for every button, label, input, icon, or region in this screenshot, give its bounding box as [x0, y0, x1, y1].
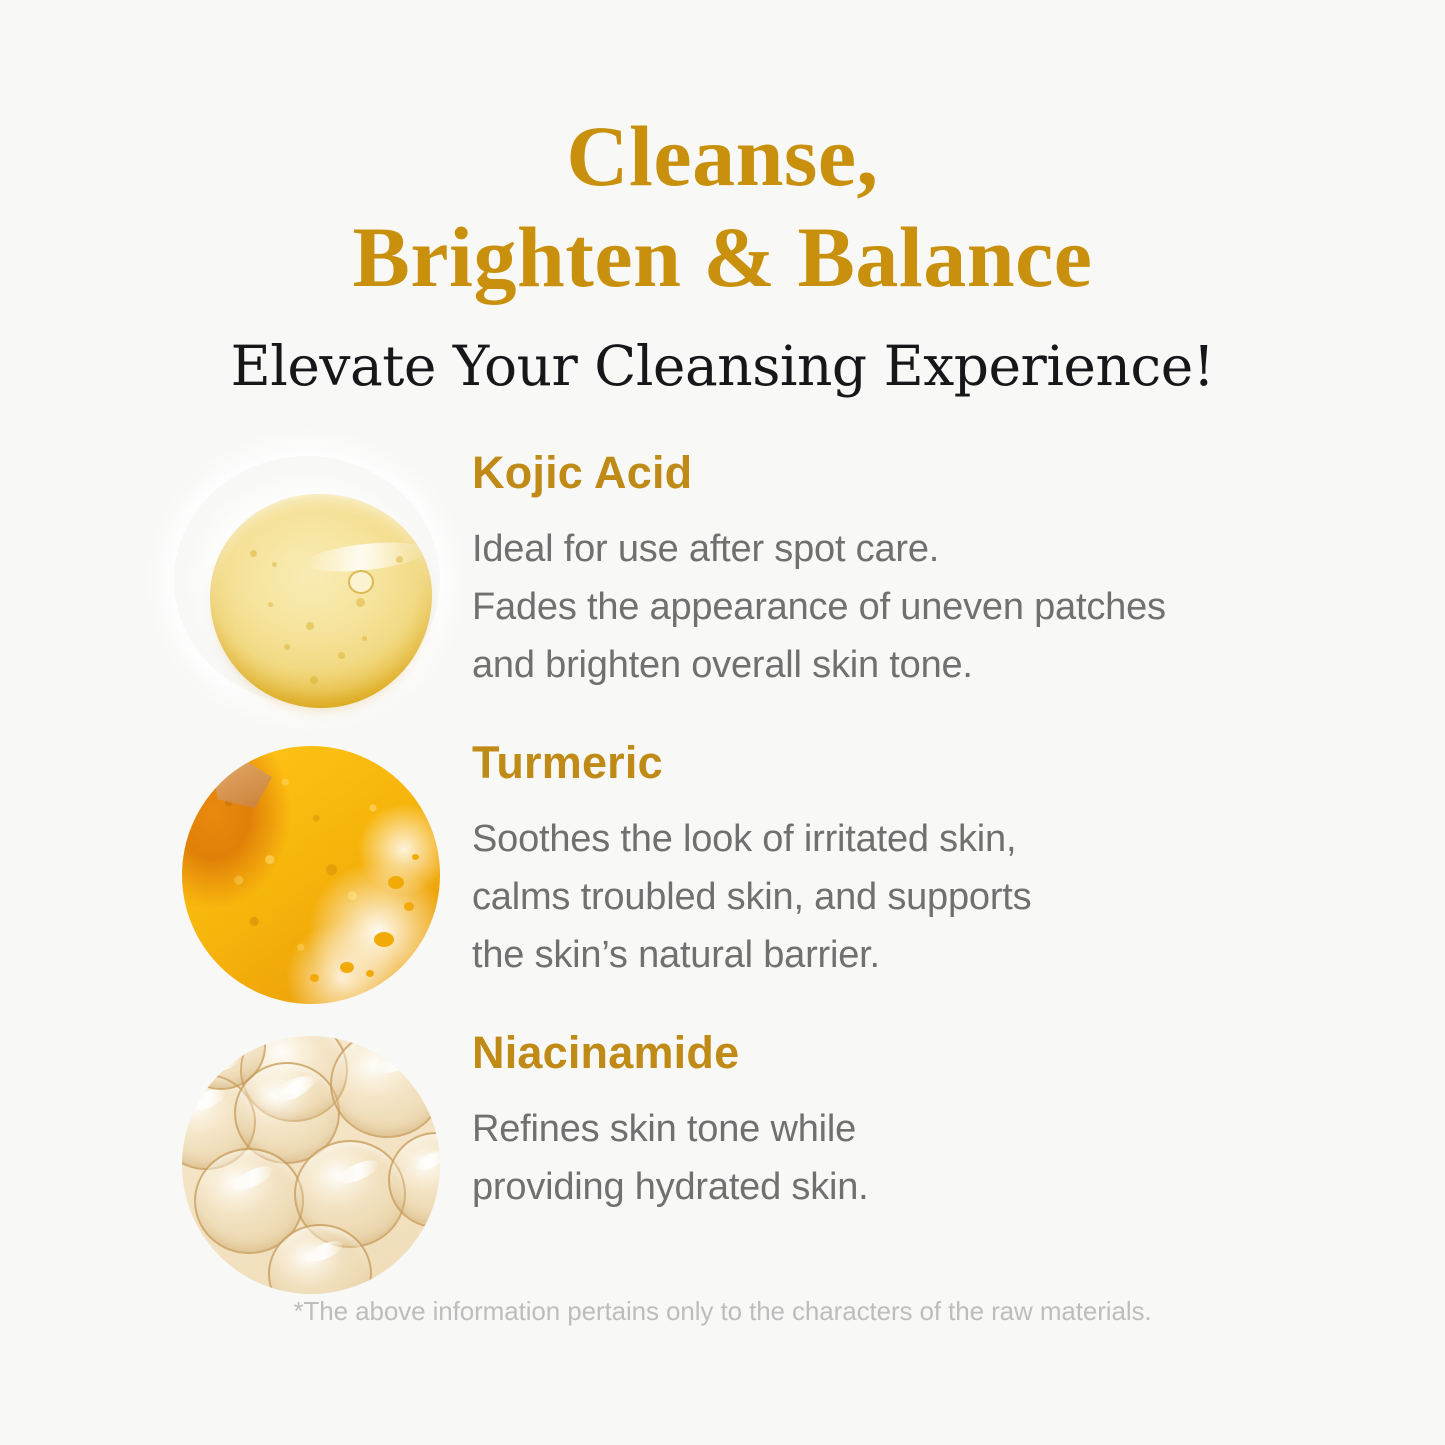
disclaimer-footnote: *The above information pertains only to …: [0, 1296, 1445, 1327]
headline-line-1: Cleanse,: [0, 106, 1445, 207]
gel-bubble-dot: [310, 676, 318, 684]
capsule-highlight: [335, 1156, 382, 1189]
gel-bubble-dot: [362, 636, 367, 641]
kojic-acid-text: Kojic Acid Ideal for use after spot care…: [460, 436, 1166, 694]
turmeric-speck: [412, 854, 419, 860]
list-item: Turmeric Soothes the look of irritated s…: [0, 726, 1445, 1016]
ingredient-title-kojic-acid: Kojic Acid: [472, 450, 1166, 495]
turmeric-thumb-wrap: [160, 726, 460, 1016]
ingredient-description-kojic-acid: Ideal for use after spot care. Fades the…: [472, 521, 1166, 694]
capsule-highlight: [413, 1147, 440, 1174]
desc-line: the skin’s natural barrier.: [472, 927, 1031, 985]
desc-line: providing hydrated skin.: [472, 1159, 869, 1217]
capsule: [330, 1036, 440, 1138]
capsule-highlight: [207, 1053, 241, 1075]
list-item: Kojic Acid Ideal for use after spot care…: [0, 436, 1445, 726]
desc-line: calms troubled skin, and supports: [472, 869, 1031, 927]
gel-bubble-dot: [250, 550, 257, 557]
turmeric-powder-image: [182, 746, 440, 1004]
kojic-acid-gel-drop-image: [174, 456, 440, 704]
turmeric-speck: [388, 876, 404, 889]
header-block: Cleanse, Brighten & Balance Elevate Your…: [0, 0, 1445, 399]
list-item: Niacinamide Refines skin tone while prov…: [0, 1016, 1445, 1306]
capsule-highlight: [303, 1237, 346, 1266]
kojic-acid-thumb-wrap: [160, 436, 460, 726]
niacinamide-capsules-image: [182, 1036, 440, 1294]
gel-bubble-dot: [356, 598, 365, 607]
turmeric-speck: [366, 970, 374, 977]
turmeric-speck: [404, 902, 414, 911]
capsule-highlight: [375, 1046, 422, 1077]
desc-line: Fades the appearance of uneven patches: [472, 579, 1166, 637]
turmeric-speck: [374, 932, 394, 947]
desc-line: Ideal for use after spot care.: [472, 521, 1166, 579]
ingredient-description-niacinamide: Refines skin tone while providing hydrat…: [472, 1101, 869, 1217]
turmeric-text: Turmeric Soothes the look of irritated s…: [460, 726, 1031, 984]
gel-blob-shape: [210, 494, 432, 708]
desc-line: Soothes the look of irritated skin,: [472, 811, 1031, 869]
gel-bubble-dot: [306, 622, 314, 630]
desc-line: and brighten overall skin tone.: [472, 637, 1166, 695]
gel-bubble-dot: [284, 644, 290, 650]
gel-bubble-dot: [338, 652, 345, 659]
ingredient-title-turmeric: Turmeric: [472, 740, 1031, 785]
desc-line: Refines skin tone while: [472, 1101, 869, 1159]
gel-bubble-dot: [396, 556, 403, 563]
page-subtitle: Elevate Your Cleansing Experience!: [0, 309, 1445, 399]
capsule-highlight: [231, 1162, 276, 1195]
ingredient-description-turmeric: Soothes the look of irritated skin, calm…: [472, 811, 1031, 984]
gel-bubble-dot: [268, 602, 273, 607]
ingredient-title-niacinamide: Niacinamide: [472, 1030, 869, 1075]
gel-bubble-ring: [348, 570, 374, 594]
ingredient-list: Kojic Acid Ideal for use after spot care…: [0, 436, 1445, 1306]
page-title: Cleanse, Brighten & Balance: [0, 106, 1445, 309]
headline-line-2: Brighten & Balance: [0, 207, 1445, 308]
turmeric-speck: [340, 962, 354, 973]
gel-bubble-dot: [272, 562, 277, 567]
niacinamide-text: Niacinamide Refines skin tone while prov…: [460, 1016, 869, 1217]
capsule-highlight: [275, 1073, 317, 1105]
niacinamide-thumb-wrap: [160, 1016, 460, 1306]
turmeric-speck: [310, 974, 319, 982]
